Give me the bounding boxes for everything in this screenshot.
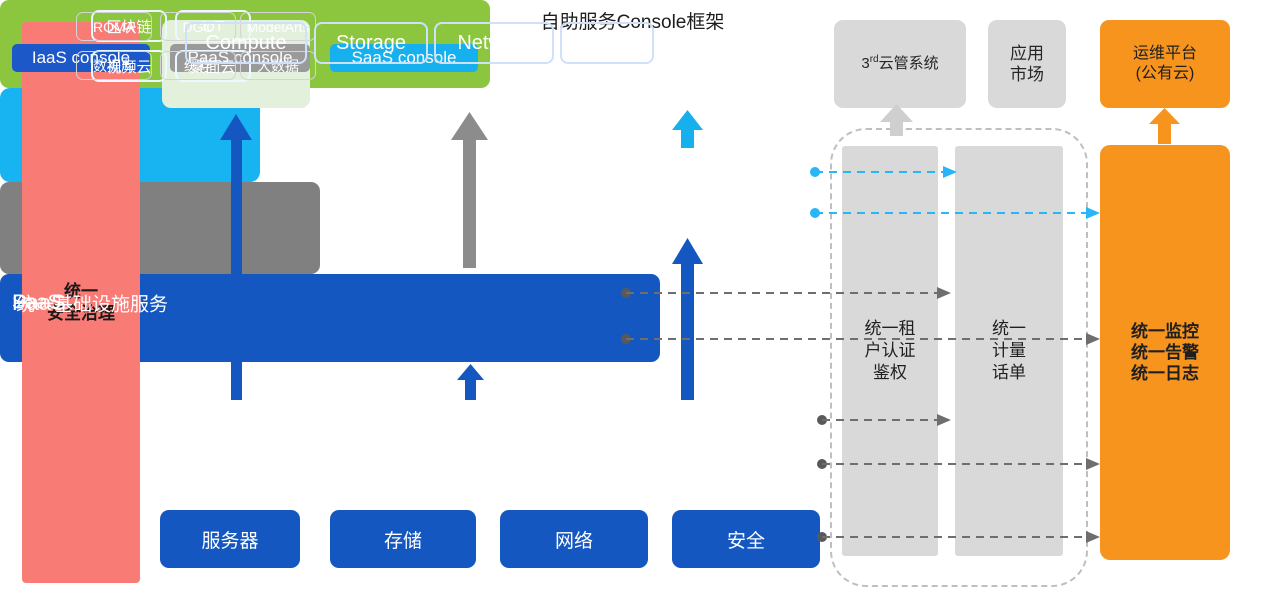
infra-chip-network[interactable]: Network [434, 22, 554, 64]
ops-panel-line3: 统一日志 [1131, 363, 1199, 384]
app-market-box[interactable]: 应用 市场 [988, 20, 1066, 108]
unified-metering-column: 统一 计量 话单 [955, 146, 1063, 556]
arrow-infra-to-saas [672, 238, 703, 400]
hardware-box-security[interactable]: 安全 [672, 510, 820, 568]
third-party-cloud-label: 3rd云管系统 [861, 54, 938, 74]
infrastructure-label: 统一基础设施服务 [16, 289, 168, 316]
ops-platform-line1: 运维平台 [1133, 44, 1197, 64]
ops-panel-line2: 统一告警 [1131, 342, 1199, 363]
ops-panel-line1: 统一监控 [1131, 321, 1199, 342]
hardware-box-network[interactable]: 网络 [500, 510, 648, 568]
arrow-paas-to-console [451, 112, 488, 268]
tenant-auth-line2: 户认证 [842, 340, 938, 362]
third-party-rest: 云管系统 [879, 55, 939, 72]
ops-platform-line2: (公有云) [1133, 64, 1197, 84]
arrow-saas-to-saas-console [672, 110, 703, 148]
app-market-line1: 应用 [1010, 43, 1044, 64]
metering-line3: 话单 [955, 362, 1063, 384]
metering-line1: 统一 [955, 318, 1063, 340]
metering-line2: 计量 [955, 340, 1063, 362]
arrow-infra-to-paas [457, 364, 484, 400]
infra-chip-storage[interactable]: Storage [314, 22, 428, 64]
infra-chip-compute[interactable]: Compute [185, 22, 307, 64]
paas-chip-database[interactable]: 数据库 [76, 51, 152, 80]
ops-monitoring-panel: 统一监控 统一告警 统一日志 [1100, 145, 1230, 560]
tenant-auth-line3: 鉴权 [842, 362, 938, 384]
ops-platform-box[interactable]: 运维平台 (公有云) [1100, 20, 1230, 108]
paas-chip-roma[interactable]: ROMA [76, 12, 152, 41]
third-party-prefix: 3 [861, 55, 869, 72]
tenant-auth-line1: 统一租 [842, 318, 938, 340]
hardware-box-server[interactable]: 服务器 [160, 510, 300, 568]
unified-tenant-auth-column: 统一租 户认证 鉴权 [842, 146, 938, 556]
arrow-to-ops-platform [1149, 108, 1180, 144]
hardware-box-storage[interactable]: 存储 [330, 510, 476, 568]
third-party-cloud-mgmt-box[interactable]: 3rd云管系统 [834, 20, 966, 108]
app-market-line2: 市场 [1010, 64, 1044, 85]
infra-chip-cce[interactable]: CCE [560, 22, 654, 64]
third-party-sup: rd [870, 54, 879, 65]
architecture-diagram: 统一 安全治理 API网关 自助服务Console框架 IaaS console… [0, 0, 1265, 605]
